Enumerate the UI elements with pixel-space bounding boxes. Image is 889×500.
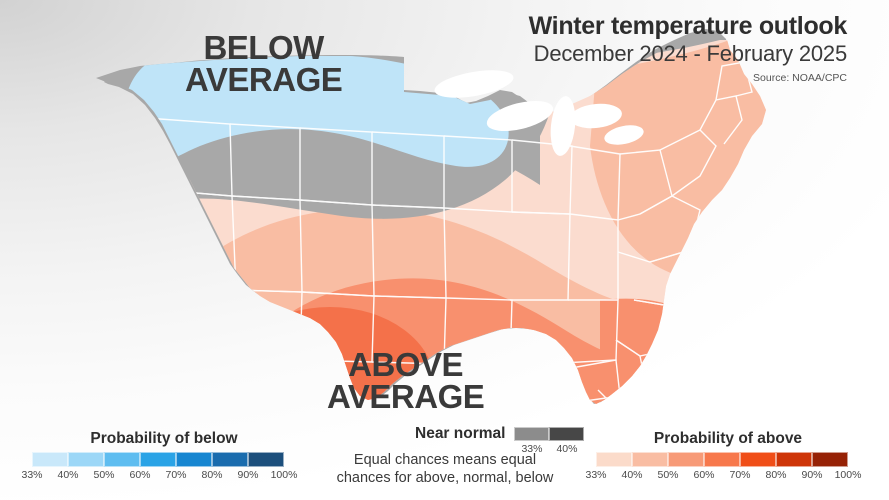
legend-swatch-0 [32, 452, 68, 467]
legend-swatch-0 [514, 427, 549, 441]
legend-tick-2: 50% [650, 469, 686, 481]
legend-tick-0: 33% [578, 469, 614, 481]
legend-below-title: Probability of below [14, 430, 314, 448]
legend-tick-3: 60% [122, 469, 158, 481]
legend-probability-below: Probability of below 33%40%50%60%70%80%9… [14, 430, 314, 481]
page-title: Winter temperature outlook [529, 12, 847, 40]
above-band-50-southeast [600, 299, 740, 430]
legend-tick-1: 40% [50, 469, 86, 481]
legend-tick-3: 60% [686, 469, 722, 481]
legend-near-normal: Near normal 33%40% [415, 424, 584, 455]
legend-above-swatches [596, 452, 878, 467]
legend-above-title: Probability of above [578, 430, 878, 448]
legend-tick-6: 90% [230, 469, 266, 481]
legend-swatch-0 [596, 452, 632, 467]
legend-tick-1: 40% [614, 469, 650, 481]
legend-near-normal-swatches [514, 427, 584, 441]
legend-swatch-6 [248, 452, 284, 467]
legend-swatch-2 [104, 452, 140, 467]
above-average-line2: AVERAGE [327, 381, 484, 413]
legend-tick-7: 100% [830, 469, 866, 481]
legend-below-ticks: 33%40%50%60%70%80%90%100% [14, 469, 314, 481]
legend-swatch-1 [632, 452, 668, 467]
legend-tick-2: 50% [86, 469, 122, 481]
below-average-line2: AVERAGE [185, 64, 342, 96]
legend-tick-6: 90% [794, 469, 830, 481]
equal-chances-line1: Equal chances means equal [315, 452, 575, 470]
legend-swatch-2 [668, 452, 704, 467]
page-subtitle: December 2024 - February 2025 [529, 41, 847, 67]
legend-below-swatches [32, 452, 314, 467]
legend-tick-7: 100% [266, 469, 302, 481]
legend-swatch-5 [776, 452, 812, 467]
legend-swatch-6 [812, 452, 848, 467]
legend-swatch-1 [68, 452, 104, 467]
header: Winter temperature outlook December 2024… [529, 12, 847, 84]
legend-probability-above: Probability of above 33%40%50%60%70%80%9… [578, 430, 878, 481]
legend-tick-4: 70% [722, 469, 758, 481]
legend-near-normal-title: Near normal [415, 424, 505, 443]
equal-chances-line2: chances for above, normal, below [315, 470, 575, 488]
legend-swatch-4 [176, 452, 212, 467]
weather-map-graphic: BELOW AVERAGE ABOVE AVERAGE Winter tempe… [0, 0, 889, 500]
legend-tick-0: 33% [14, 469, 50, 481]
legend-tick-5: 80% [194, 469, 230, 481]
legend-swatch-3 [704, 452, 740, 467]
legend-swatch-5 [212, 452, 248, 467]
legend-tick-5: 80% [758, 469, 794, 481]
source-credit: Source: NOAA/CPC [529, 72, 847, 84]
legend-swatch-3 [140, 452, 176, 467]
legend-swatch-4 [740, 452, 776, 467]
map-annotation-above-average: ABOVE AVERAGE [327, 349, 484, 413]
legend-above-ticks: 33%40%50%60%70%80%90%100% [578, 469, 878, 481]
map-annotation-below-average: BELOW AVERAGE [185, 32, 342, 96]
legend-tick-4: 70% [158, 469, 194, 481]
equal-chances-note: Equal chances means equal chances for ab… [315, 452, 575, 487]
